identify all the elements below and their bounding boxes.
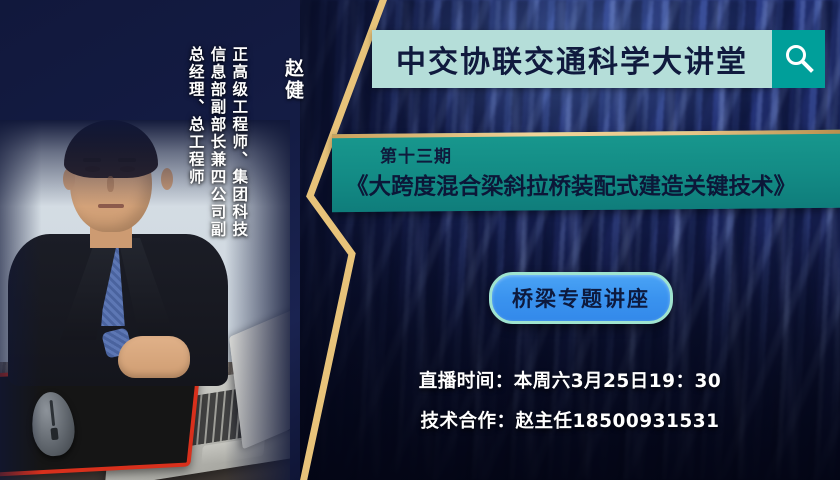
credential-column-1: 正高级工程师、集团科技	[229, 46, 246, 346]
episode-number: 第十三期	[380, 142, 840, 167]
background-shadow-bottom	[300, 230, 840, 480]
topic-badge-label: 桥梁专题讲座	[512, 283, 650, 313]
lecture-title: 《大跨度混合梁斜拉桥装配式建造关键技术》	[346, 169, 840, 201]
poster-root: 正高级工程师、集团科技 信息部副部长兼四公司副 总经理、总工程师 赵健 中交协联…	[0, 0, 840, 480]
topic-badge[interactable]: 桥梁专题讲座	[489, 272, 673, 324]
ear-right	[161, 168, 173, 190]
main-title-text: 中交协联交通科学大讲堂	[396, 37, 748, 81]
speaker-name: 赵健	[279, 58, 306, 102]
eyebrow-right	[118, 158, 136, 162]
broadcast-time: 直播时间：本周六3月25日19：30	[300, 367, 840, 393]
hair	[64, 120, 158, 178]
credential-column-2: 信息部副部长兼四公司副	[208, 46, 225, 346]
left-panel: 正高级工程师、集团科技 信息部副部长兼四公司副 总经理、总工程师	[0, 0, 300, 480]
clasped-hands	[118, 336, 190, 378]
mouth	[98, 204, 124, 208]
search-icon	[782, 42, 816, 76]
search-button[interactable]	[772, 30, 825, 88]
eyebrow-left	[83, 158, 101, 162]
mouse-scroll-wheel	[50, 428, 58, 441]
eye-right	[120, 166, 135, 172]
eye-left	[85, 166, 100, 172]
subtitle-banner: 第十三期 《大跨度混合梁斜拉桥装配式建造关键技术》	[332, 130, 840, 212]
credential-column-3: 总经理、总工程师	[186, 46, 203, 346]
main-title-banner: 中交协联交通科学大讲堂	[372, 30, 772, 88]
nose	[107, 176, 114, 192]
technical-contact: 技术合作：赵主任18500931531	[300, 407, 840, 433]
credentials-block: 正高级工程师、集团科技 信息部副部长兼四公司副 总经理、总工程师	[186, 46, 246, 346]
